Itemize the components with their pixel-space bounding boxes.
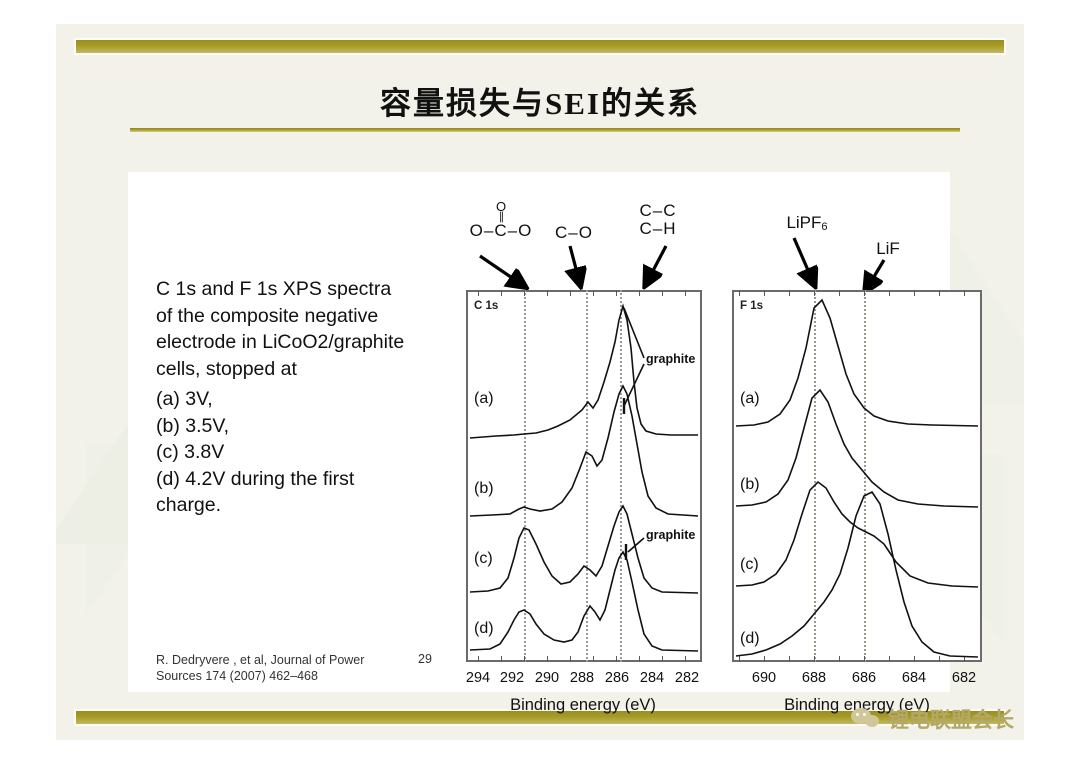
- c1s-tick-292: 292: [500, 670, 524, 686]
- f1s-tick-690: 690: [752, 670, 776, 686]
- figure-panel: C 1s and F 1s XPS spectra of the composi…: [128, 172, 950, 692]
- f1s-tick-682: 682: [952, 670, 976, 686]
- assignment-cc-label: C–C: [628, 202, 688, 220]
- figure-caption: C 1s and F 1s XPS spectra of the composi…: [156, 276, 406, 519]
- caption-body: C 1s and F 1s XPS spectra of the composi…: [156, 276, 406, 382]
- arrow-carbonate: [480, 256, 524, 286]
- assignment-co-label: C–O: [544, 224, 604, 242]
- f1s-tick-686: 686: [852, 670, 876, 686]
- c1s-tick-288: 288: [570, 670, 594, 686]
- c1s-tick-284: 284: [640, 670, 664, 686]
- caption-item-c: (c) 3.8V: [156, 439, 406, 466]
- assignment-carbonate: O ∥ O–C–O: [446, 200, 556, 240]
- chart-c1s-curves: [466, 290, 702, 662]
- watermark-text: 锂电联盟会长: [888, 704, 1014, 734]
- c1s-tick-286: 286: [605, 670, 629, 686]
- assignment-co: C–O: [544, 224, 604, 242]
- slide-title: 容量损失与SEI的关系: [56, 78, 1024, 123]
- c1s-tick-294: 294: [466, 670, 490, 686]
- title-underline-rule: [130, 128, 960, 132]
- assignment-carbonate-label: O–C–O: [446, 222, 556, 240]
- arrow-cc-ch: [646, 246, 666, 284]
- assignment-lipf6-label: LiPF: [786, 213, 821, 232]
- page-number: 29: [418, 652, 432, 666]
- f1s-tick-684: 684: [902, 670, 926, 686]
- curve-b: [736, 390, 978, 507]
- curve-c: [470, 506, 698, 593]
- presentation-slide: 容量损失与SEI的关系 C 1s and F 1s XPS spectra of…: [56, 24, 1024, 740]
- caption-item-a: (a) 3V,: [156, 386, 406, 413]
- assignment-cc-ch: C–C C–H: [628, 202, 688, 238]
- caption-item-d: (d) 4.2V during the first charge.: [156, 466, 406, 519]
- slide-stage: 容量损失与SEI的关系 C 1s and F 1s XPS spectra of…: [0, 0, 1080, 763]
- arrow-co: [570, 246, 580, 284]
- chart-c1s: C 1s (a) (b) (c) (d) graphite graphite: [466, 290, 702, 662]
- arrow-lipf6: [794, 238, 814, 284]
- assignment-lif: LiF: [858, 240, 918, 258]
- curve-d: [736, 492, 978, 657]
- assignment-lipf6-subscript: 6: [821, 221, 827, 233]
- curve-b: [470, 386, 698, 516]
- chart-f1s: F 1s (a) (b) (c) (d): [732, 290, 982, 662]
- watermark: 锂电联盟会长: [851, 704, 1014, 734]
- assignment-lipf6: LiPF6: [764, 214, 850, 236]
- f1s-tick-688: 688: [802, 670, 826, 686]
- citation-line-1: R. Dedryvere , et al, Journal of Power: [156, 652, 416, 668]
- top-accent-bar: [76, 40, 1004, 53]
- arrow-lif: [866, 260, 884, 290]
- assignment-ch-label: C–H: [628, 220, 688, 238]
- curve-a: [470, 306, 698, 438]
- annotation-graphite-top: graphite: [646, 352, 695, 366]
- citation: R. Dedryvere , et al, Journal of Power S…: [156, 652, 416, 684]
- chart-f1s-curves: [732, 290, 982, 662]
- curve-a: [736, 300, 978, 426]
- c1s-tick-290: 290: [535, 670, 559, 686]
- caption-item-b: (b) 3.5V,: [156, 413, 406, 440]
- citation-line-2: Sources 174 (2007) 462–468: [156, 668, 416, 684]
- chart-c1s-xlabel: Binding energy (eV): [458, 696, 708, 715]
- wechat-bubble-icon: [851, 708, 881, 730]
- annotation-graphite-bottom: graphite: [646, 528, 695, 542]
- c1s-tick-282: 282: [675, 670, 699, 686]
- assignment-lif-label: LiF: [858, 240, 918, 258]
